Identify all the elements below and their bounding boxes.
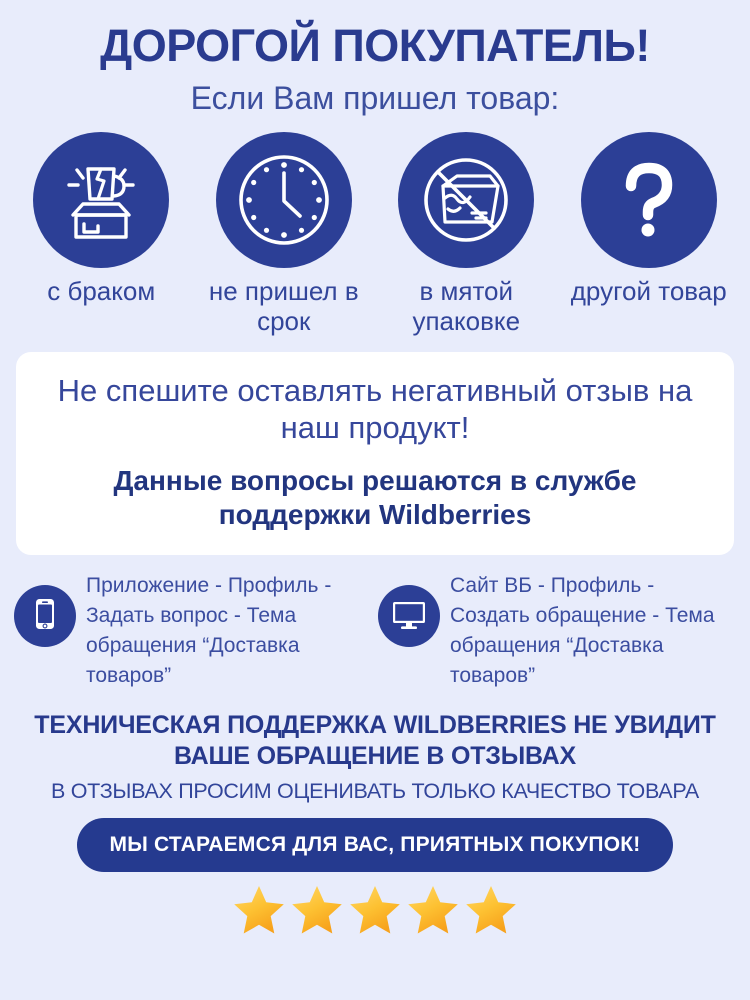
star-icon xyxy=(348,884,402,936)
question-mark-icon xyxy=(595,146,703,254)
star-icon xyxy=(290,884,344,936)
support-notice-bold: ТЕХНИЧЕСКАЯ ПОДДЕРЖКА WILDBERRIES НЕ УВИ… xyxy=(8,710,742,771)
reason-item-crushed: в мятой упаковке xyxy=(377,132,555,335)
reason-label: с браком xyxy=(47,277,155,306)
broken-item-in-box-icon xyxy=(53,152,149,248)
star-icon xyxy=(232,884,286,936)
support-notice-sub: В ОТЗЫВАХ ПРОСИМ ОЦЕНИВАТЬ ТОЛЬКО КАЧЕСТ… xyxy=(8,779,742,804)
instruction-icon-circle xyxy=(14,585,76,647)
instruction-text: Сайт ВБ - Профиль - Создать обращение - … xyxy=(450,571,736,690)
instruction-app: Приложение - Профиль - Задать вопрос - Т… xyxy=(14,571,372,690)
page-title: ДОРОГОЙ ПОКУПАТЕЛЬ! xyxy=(100,22,650,69)
reason-icon-circle xyxy=(581,132,717,268)
reason-icon-circle xyxy=(33,132,169,268)
rating-stars xyxy=(232,884,518,936)
star-icon xyxy=(464,884,518,936)
cta-button[interactable]: МЫ СТАРАЕМСЯ ДЛЯ ВАС, ПРИЯТНЫХ ПОКУПОК! xyxy=(77,818,673,872)
reason-item-wrong: другой товар xyxy=(560,132,738,306)
support-notice: ТЕХНИЧЕСКАЯ ПОДДЕРЖКА WILDBERRIES НЕ УВИ… xyxy=(0,710,750,804)
reasons-row: с браком xyxy=(0,132,750,335)
reason-label: другой товар xyxy=(571,277,727,306)
instruction-icon-circle xyxy=(378,585,440,647)
smartphone-icon xyxy=(26,595,64,638)
reason-item-late: не пришел в срок xyxy=(195,132,373,335)
page-subtitle: Если Вам пришел товар: xyxy=(191,81,560,116)
instructions-row: Приложение - Профиль - Задать вопрос - Т… xyxy=(0,571,750,690)
reason-icon-circle xyxy=(216,132,352,268)
notice-card: Не спешите оставлять негативный отзыв на… xyxy=(16,352,734,556)
desktop-monitor-icon xyxy=(389,594,429,639)
infographic-page: ДОРОГОЙ ПОКУПАТЕЛЬ! Если Вам пришел това… xyxy=(0,0,750,1000)
clock-icon xyxy=(230,146,338,254)
reason-icon-circle xyxy=(398,132,534,268)
card-primary-text: Не спешите оставлять негативный отзыв на… xyxy=(38,372,712,446)
instruction-website: Сайт ВБ - Профиль - Создать обращение - … xyxy=(378,571,736,690)
instruction-text: Приложение - Профиль - Задать вопрос - Т… xyxy=(86,571,372,690)
reason-label: в мятой упаковке xyxy=(377,277,555,335)
reason-label: не пришел в срок xyxy=(195,277,373,335)
reason-item-defect: с браком xyxy=(12,132,190,306)
no-crumpled-package-icon xyxy=(412,146,520,254)
star-icon xyxy=(406,884,460,936)
card-secondary-text: Данные вопросы решаются в службе поддерж… xyxy=(38,464,712,531)
